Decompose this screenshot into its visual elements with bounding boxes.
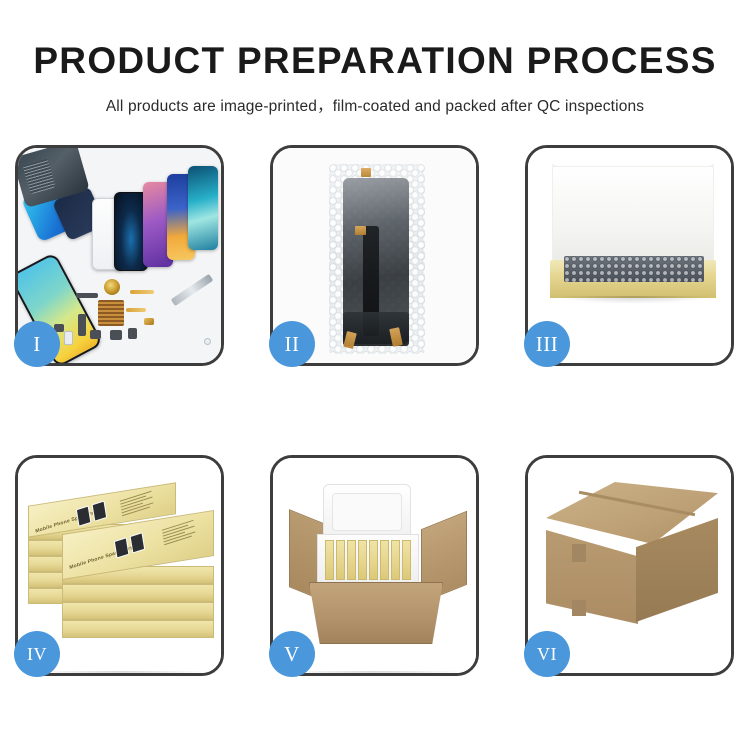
box-stack: Mobile Phone Spare Parts Mobile Phone Sp… — [26, 480, 221, 660]
box-screen-images-front — [114, 532, 145, 558]
stacked-box-front-4 — [62, 620, 214, 638]
box-spec-lines-front — [162, 520, 196, 547]
step-badge-3: III — [524, 321, 570, 367]
tweezer-tool — [171, 274, 214, 306]
stack-shadow — [30, 671, 209, 673]
antenna-part — [76, 293, 98, 298]
copper-shield-part — [98, 300, 124, 326]
yellow-boxes-inside — [325, 540, 411, 580]
stacked-box-front-2 — [62, 584, 214, 602]
product-preparation-infographic: PRODUCT PREPARATION PROCESS All products… — [0, 0, 750, 750]
tape-mark-bottom-left — [343, 331, 357, 349]
foam-lid — [323, 484, 411, 540]
box-spec-lines-back — [120, 491, 154, 518]
box-shadow — [554, 296, 712, 304]
flex-cable-part — [130, 290, 154, 294]
step-badge-6: VI — [524, 631, 570, 677]
button-part — [128, 328, 137, 339]
step-badge-2: II — [269, 321, 315, 367]
step-panel-6[interactable]: VI — [525, 455, 734, 676]
carton-tape-upper — [572, 544, 586, 562]
carton-left-face — [546, 530, 638, 624]
stacked-box-front-3 — [62, 602, 214, 620]
vibrator-part — [110, 330, 122, 340]
tape-mark-middle — [355, 226, 366, 235]
carton-shadow — [285, 671, 464, 673]
flex-cable-part-2 — [126, 308, 146, 312]
step-panel-5[interactable]: V — [270, 455, 479, 676]
phone-teal-screen — [188, 166, 218, 250]
sim-tray-part — [64, 331, 73, 345]
foam-padding — [564, 256, 704, 282]
carton-body — [309, 582, 443, 644]
box-screen-images-back — [76, 500, 107, 526]
carton-tape-lower — [572, 600, 586, 616]
step-panel-2[interactable]: II — [270, 145, 479, 366]
step-panel-4[interactable]: Mobile Phone Spare Parts Mobile Phone Sp… — [15, 455, 224, 676]
gold-contact-part — [144, 318, 154, 325]
step-badge-4: IV — [14, 631, 60, 677]
step-panel-3[interactable]: III — [525, 145, 734, 366]
tape-mark-top — [361, 168, 371, 177]
steps-grid: I II — [0, 0, 750, 750]
step-panel-1[interactable]: I — [15, 145, 224, 366]
camera-module-part — [90, 330, 101, 339]
screw-part — [204, 338, 211, 345]
bubble-wrap-bag — [329, 164, 425, 354]
connector-part — [78, 314, 86, 336]
step-badge-1: I — [14, 321, 60, 367]
step-badge-5: V — [269, 631, 315, 677]
speaker-coin-part — [104, 279, 120, 295]
